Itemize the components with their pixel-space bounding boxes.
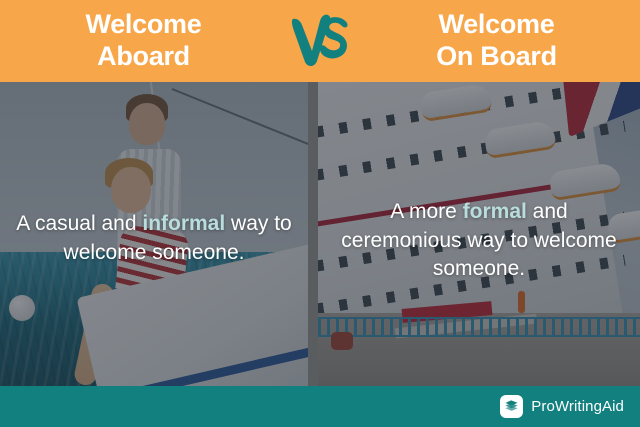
- caption-highlight: informal: [142, 212, 225, 235]
- infographic-canvas: Welcome Aboard Welcome On Board: [0, 0, 640, 427]
- caption-prefix: A more: [390, 200, 462, 223]
- vs-icon: [289, 11, 351, 69]
- prowritingaid-logo-icon: [500, 395, 523, 418]
- panel-left: A casual and informal way to welcome som…: [0, 82, 308, 386]
- comparison-panels: A casual and informal way to welcome som…: [0, 82, 640, 386]
- panel-left-caption: A casual and informal way to welcome som…: [0, 210, 308, 267]
- caption-prefix: A casual and: [16, 212, 142, 235]
- brand-name: ProWritingAid: [531, 398, 624, 415]
- header-title-left: Welcome Aboard: [4, 9, 283, 73]
- brand-lockup[interactable]: ProWritingAid: [500, 395, 624, 418]
- header-title-right: Welcome On Board: [357, 9, 636, 73]
- footer-bar: ProWritingAid: [0, 386, 640, 427]
- caption-highlight: formal: [463, 200, 527, 223]
- panel-right: A more formal and ceremonious way to wel…: [318, 82, 640, 386]
- panel-right-caption: A more formal and ceremonious way to wel…: [318, 198, 640, 284]
- vs-badge: [283, 11, 357, 71]
- panel-divider: [308, 82, 318, 386]
- header-bar: Welcome Aboard Welcome On Board: [0, 0, 640, 82]
